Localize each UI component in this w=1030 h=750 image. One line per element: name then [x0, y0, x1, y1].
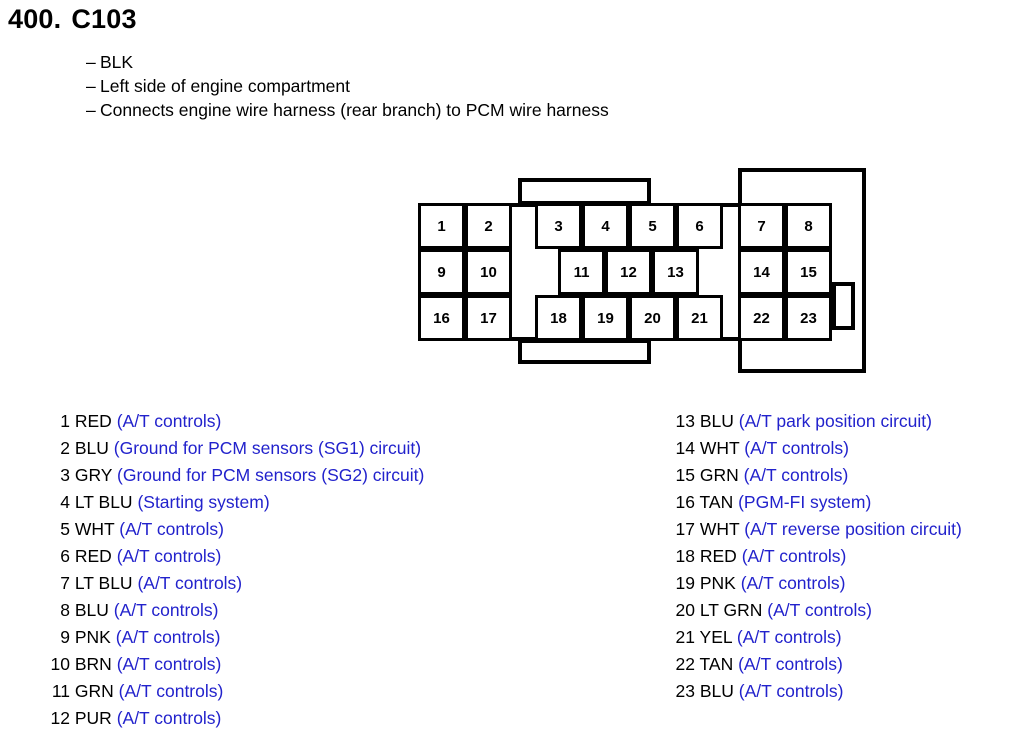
terminal-cell-18[interactable]: 18 [535, 295, 582, 341]
pin-number: 8 [40, 597, 70, 624]
terminal-cell-6[interactable]: 6 [676, 203, 723, 249]
terminal-cell-17[interactable]: 17 [465, 295, 512, 341]
terminal-number: 21 [691, 311, 708, 326]
right-side-notch [832, 282, 855, 330]
terminal-cell-9[interactable]: 9 [418, 249, 465, 295]
connector-terminal-diagram: 1291016173456111213181920217814152223 [405, 160, 885, 385]
pin-row: 8 BLU (A/T controls) [40, 597, 510, 624]
terminal-cell-20[interactable]: 20 [629, 295, 676, 341]
pin-circuit-description: (A/T controls) [742, 546, 847, 566]
terminal-number: 22 [753, 311, 770, 326]
terminal-cell-5[interactable]: 5 [629, 203, 676, 249]
pin-wire-color: GRY [70, 465, 117, 485]
terminal-cell-11[interactable]: 11 [558, 249, 605, 295]
terminal-number: 7 [757, 219, 765, 234]
terminal-number: 15 [800, 265, 817, 280]
pin-circuit-description: (A/T park position circuit) [739, 411, 932, 431]
terminal-cell-12[interactable]: 12 [605, 249, 652, 295]
pin-row: 16 TAN (PGM-FI system) [665, 489, 1030, 516]
pin-circuit-description: (A/T controls) [116, 627, 221, 647]
pin-row: 15 GRN (A/T controls) [665, 462, 1030, 489]
terminal-cell-13[interactable]: 13 [652, 249, 699, 295]
pin-circuit-description: (A/T controls) [117, 654, 222, 674]
pin-number: 4 [40, 489, 70, 516]
pin-wire-color: BLU [70, 600, 114, 620]
pin-number: 20 [665, 597, 695, 624]
terminal-number: 6 [695, 219, 703, 234]
pin-number: 22 [665, 651, 695, 678]
pin-wire-color: TAN [695, 492, 738, 512]
bullet-text: BLK [100, 52, 133, 72]
pin-list-left-column: 1 RED (A/T controls)2 BLU (Ground for PC… [40, 408, 510, 732]
pin-number: 10 [40, 651, 70, 678]
pin-row: 10 BRN (A/T controls) [40, 651, 510, 678]
pin-circuit-description: (PGM-FI system) [738, 492, 871, 512]
pin-number: 13 [665, 408, 695, 435]
pin-wire-color: PUR [70, 708, 117, 728]
pin-wire-color: LT BLU [70, 573, 137, 593]
pin-wire-color: TAN [695, 654, 738, 674]
terminal-number: 1 [437, 219, 445, 234]
pin-number: 19 [665, 570, 695, 597]
pin-number: 11 [40, 678, 70, 705]
dash-glyph: – [86, 74, 100, 98]
pin-number: 17 [665, 516, 695, 543]
page-title: 400.C103 [8, 4, 137, 35]
terminal-cell-2[interactable]: 2 [465, 203, 512, 249]
pin-circuit-description: (A/T controls) [737, 627, 842, 647]
terminal-number: 3 [554, 219, 562, 234]
pin-wire-color: BRN [70, 654, 117, 674]
pin-row: 21 YEL (A/T controls) [665, 624, 1030, 651]
terminal-number: 23 [800, 311, 817, 326]
pin-wire-color: LT BLU [70, 492, 137, 512]
pin-number: 9 [40, 624, 70, 651]
terminal-number: 5 [648, 219, 656, 234]
pin-wire-color: PNK [695, 573, 741, 593]
pin-wire-color: RED [70, 546, 117, 566]
terminal-number: 8 [804, 219, 812, 234]
terminal-cell-14[interactable]: 14 [738, 249, 785, 295]
terminal-number: 13 [667, 265, 684, 280]
pin-circuit-description: (Ground for PCM sensors (SG1) circuit) [114, 438, 421, 458]
pin-circuit-description: (A/T controls) [744, 438, 849, 458]
terminal-cell-22[interactable]: 22 [738, 295, 785, 341]
terminal-cell-23[interactable]: 23 [785, 295, 832, 341]
pin-row: 2 BLU (Ground for PCM sensors (SG1) circ… [40, 435, 510, 462]
pin-circuit-description: (A/T controls) [117, 546, 222, 566]
terminal-cell-4[interactable]: 4 [582, 203, 629, 249]
bullet-item: –Connects engine wire harness (rear bran… [86, 98, 986, 122]
bullet-text: Connects engine wire harness (rear branc… [100, 100, 609, 120]
bullet-item: –BLK [86, 50, 986, 74]
pin-row: 19 PNK (A/T controls) [665, 570, 1030, 597]
pin-number: 18 [665, 543, 695, 570]
bullet-item: –Left side of engine compartment [86, 74, 986, 98]
pin-list-right-column: 13 BLU (A/T park position circuit)14 WHT… [665, 408, 1030, 705]
pin-wire-color: PNK [70, 627, 116, 647]
pin-circuit-description: (A/T reverse position circuit) [744, 519, 962, 539]
pin-number: 15 [665, 462, 695, 489]
pin-wire-color: BLU [695, 681, 739, 701]
terminal-number: 17 [480, 311, 497, 326]
pin-circuit-description: (Starting system) [137, 492, 269, 512]
pin-row: 18 RED (A/T controls) [665, 543, 1030, 570]
pin-row: 17 WHT (A/T reverse position circuit) [665, 516, 1030, 543]
connector-id: C103 [71, 4, 136, 34]
bottom-center-tab [518, 339, 651, 364]
dash-glyph: – [86, 98, 100, 122]
pin-wire-color: RED [695, 546, 742, 566]
pin-wire-color: WHT [70, 519, 119, 539]
terminal-number: 18 [550, 311, 567, 326]
pin-circuit-description: (A/T controls) [114, 600, 219, 620]
terminal-number: 11 [574, 265, 590, 280]
terminal-cell-15[interactable]: 15 [785, 249, 832, 295]
pin-circuit-description: (A/T controls) [741, 573, 846, 593]
pin-row: 1 RED (A/T controls) [40, 408, 510, 435]
terminal-number: 16 [433, 311, 450, 326]
terminal-cell-7[interactable]: 7 [738, 203, 785, 249]
terminal-cell-1[interactable]: 1 [418, 203, 465, 249]
pin-circuit-description: (A/T controls) [119, 681, 224, 701]
bullet-text: Left side of engine compartment [100, 76, 350, 96]
pin-circuit-description: (Ground for PCM sensors (SG2) circuit) [117, 465, 424, 485]
terminal-number: 14 [753, 265, 770, 280]
pin-circuit-description: (A/T controls) [137, 573, 242, 593]
pin-wire-color: GRN [70, 681, 119, 701]
pin-row: 5 WHT (A/T controls) [40, 516, 510, 543]
pin-row: 12 PUR (A/T controls) [40, 705, 510, 732]
connector-description-list: –BLK –Left side of engine compartment –C… [86, 50, 986, 122]
terminal-cell-21[interactable]: 21 [676, 295, 723, 341]
pin-row: 3 GRY (Ground for PCM sensors (SG2) circ… [40, 462, 510, 489]
pin-row: 14 WHT (A/T controls) [665, 435, 1030, 462]
terminal-number: 2 [484, 219, 492, 234]
pin-circuit-description: (A/T controls) [117, 708, 222, 728]
terminal-number: 9 [437, 265, 445, 280]
pin-wire-color: GRN [695, 465, 744, 485]
pin-wire-color: BLU [70, 438, 114, 458]
terminal-cell-19[interactable]: 19 [582, 295, 629, 341]
dash-glyph: – [86, 50, 100, 74]
pin-wire-color: RED [70, 411, 117, 431]
pin-wire-color: YEL [695, 627, 737, 647]
pin-wire-color: WHT [695, 438, 744, 458]
terminal-cell-10[interactable]: 10 [465, 249, 512, 295]
pin-row: 23 BLU (A/T controls) [665, 678, 1030, 705]
pin-number: 7 [40, 570, 70, 597]
pin-circuit-description: (A/T controls) [119, 519, 224, 539]
pin-circuit-description: (A/T controls) [744, 465, 849, 485]
pin-row: 22 TAN (A/T controls) [665, 651, 1030, 678]
pin-row: 13 BLU (A/T park position circuit) [665, 408, 1030, 435]
terminal-cell-3[interactable]: 3 [535, 203, 582, 249]
terminal-number: 19 [597, 311, 614, 326]
pin-wire-color: BLU [695, 411, 739, 431]
top-center-tab [518, 178, 651, 205]
terminal-number: 12 [620, 265, 637, 280]
pin-number: 2 [40, 435, 70, 462]
pin-number: 16 [665, 489, 695, 516]
pin-wire-color: WHT [695, 519, 744, 539]
page-number: 400. [8, 4, 61, 34]
pin-circuit-description: (A/T controls) [739, 681, 844, 701]
pin-row: 7 LT BLU (A/T controls) [40, 570, 510, 597]
pin-number: 6 [40, 543, 70, 570]
terminal-number: 4 [601, 219, 609, 234]
pin-row: 9 PNK (A/T controls) [40, 624, 510, 651]
terminal-number: 10 [480, 265, 497, 280]
pin-row: 20 LT GRN (A/T controls) [665, 597, 1030, 624]
pin-row: 6 RED (A/T controls) [40, 543, 510, 570]
pin-number: 3 [40, 462, 70, 489]
pin-number: 21 [665, 624, 695, 651]
pin-number: 5 [40, 516, 70, 543]
pin-row: 11 GRN (A/T controls) [40, 678, 510, 705]
terminal-cell-8[interactable]: 8 [785, 203, 832, 249]
pin-circuit-description: (A/T controls) [767, 600, 872, 620]
pin-circuit-description: (A/T controls) [117, 411, 222, 431]
terminal-cell-16[interactable]: 16 [418, 295, 465, 341]
pin-number: 12 [40, 705, 70, 732]
pin-circuit-description: (A/T controls) [738, 654, 843, 674]
pin-number: 1 [40, 408, 70, 435]
pin-row: 4 LT BLU (Starting system) [40, 489, 510, 516]
pin-number: 23 [665, 678, 695, 705]
terminal-number: 20 [644, 311, 661, 326]
pin-wire-color: LT GRN [695, 600, 767, 620]
pin-number: 14 [665, 435, 695, 462]
